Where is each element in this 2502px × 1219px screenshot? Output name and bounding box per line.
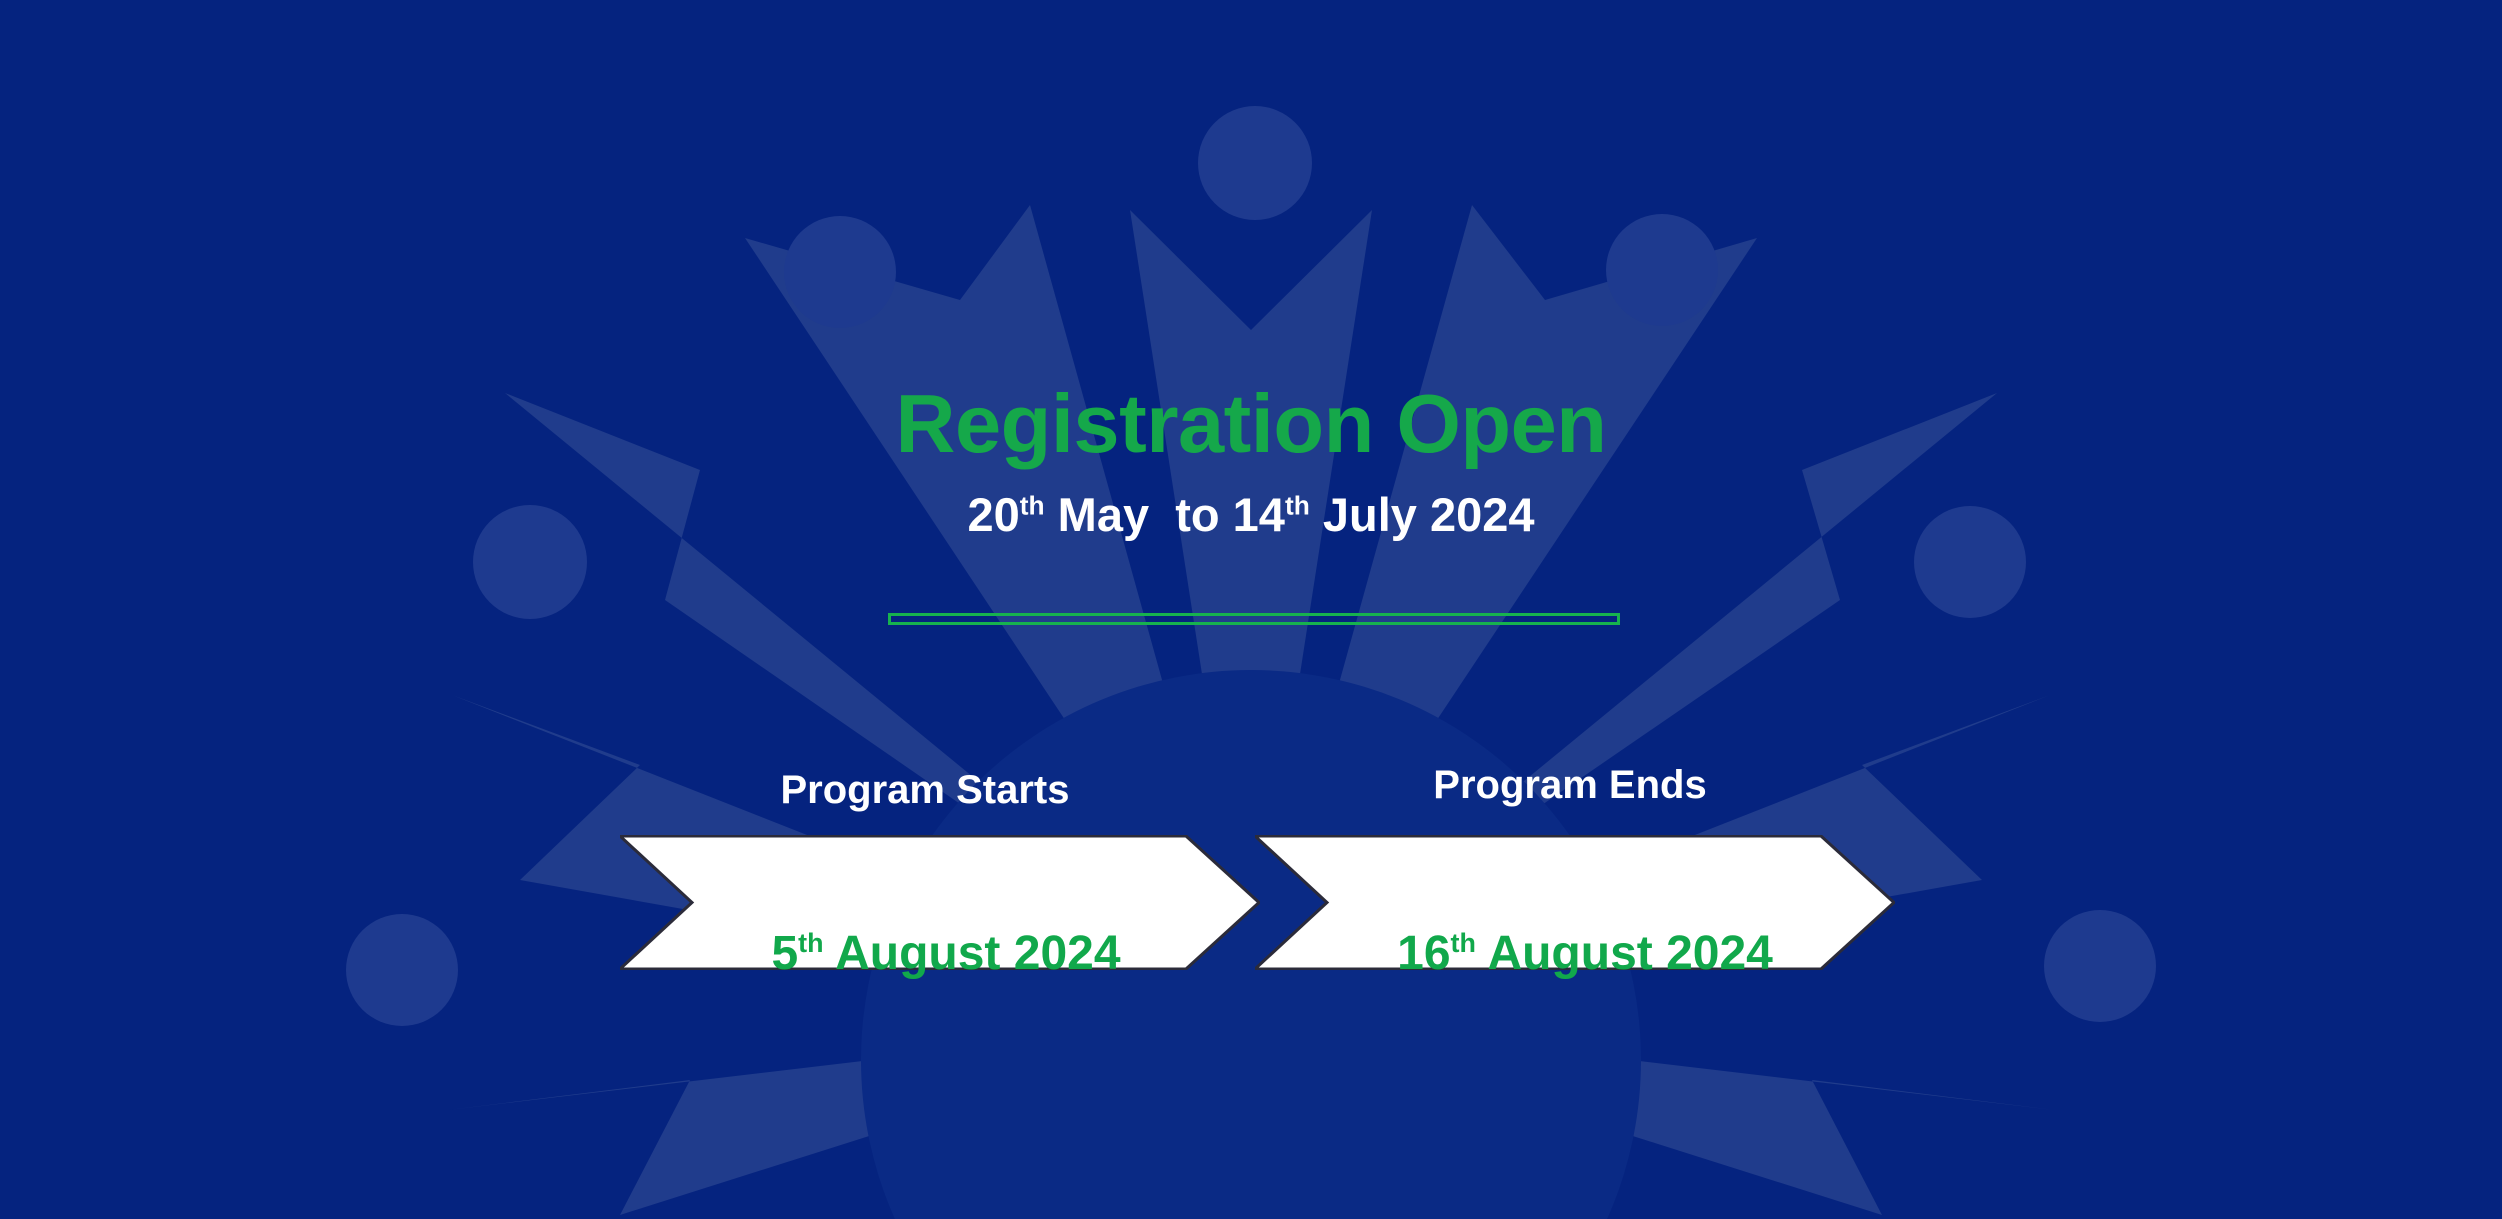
registration-start-month: May to [1045, 488, 1233, 541]
promo-banner: Registration Open 20th May to 14th July … [0, 0, 2502, 1219]
milestone-start-day: 5 [771, 927, 798, 980]
milestone-start-ordinal: th [798, 928, 823, 958]
milestone-label-end: Program Ends [1250, 765, 1890, 805]
divider-rule [888, 613, 1620, 625]
decor-circle-top [1198, 106, 1312, 220]
milestone-date-end: 16th August 2024 [1265, 930, 1905, 978]
milestone-group: Program Starts 5th August 2024 Program E… [0, 770, 2502, 1030]
registration-end-day: 14 [1233, 488, 1285, 541]
milestone-end-rest: August 2024 [1476, 927, 1773, 980]
decor-circle-upper-right [1606, 214, 1718, 326]
registration-end-ordinal: th [1285, 490, 1310, 520]
background-artwork [0, 0, 2502, 1219]
milestone-end-ordinal: th [1451, 928, 1476, 958]
milestone-start-rest: August 2024 [824, 927, 1121, 980]
registration-window: 20th May to 14th July 2024 [0, 465, 2502, 538]
milestone-date-start: 5th August 2024 [626, 930, 1266, 978]
decor-circle-upper-left [784, 216, 896, 328]
page-title: Registration Open [0, 382, 2502, 465]
registration-start-ordinal: th [1020, 490, 1045, 520]
milestone-label-start: Program Starts [605, 770, 1245, 810]
milestone-end-day: 16 [1397, 927, 1450, 980]
registration-end-month: July 2024 [1310, 488, 1535, 541]
headline-block: Registration Open 20th May to 14th July … [0, 382, 2502, 538]
registration-start-day: 20 [968, 488, 1020, 541]
